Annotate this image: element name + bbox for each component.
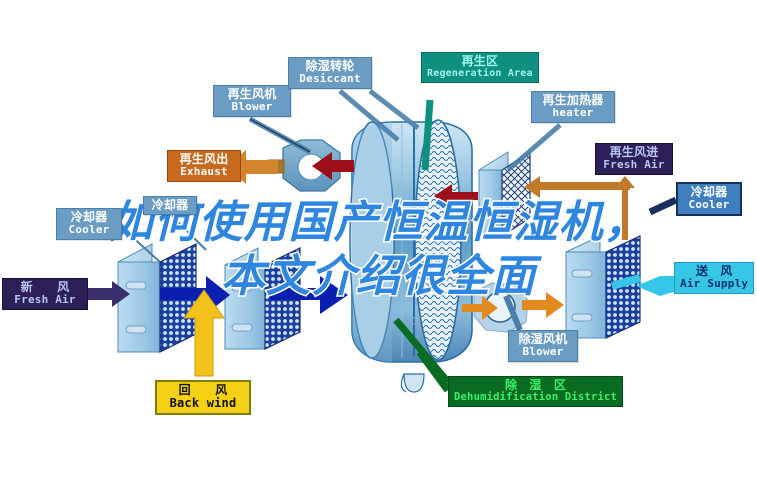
label-cooler-mid-cn: 冷却器: [149, 199, 191, 212]
label-air-supply: 送 风Air Supply: [674, 262, 754, 294]
label-cooler-left-en: Cooler: [62, 224, 116, 236]
label-dehum-district: 除 湿 区Dehumidification District: [448, 376, 623, 407]
label-dehum-district-cn: 除 湿 区: [454, 379, 617, 392]
label-regen-area: 再生区Regeneration Area: [421, 52, 539, 83]
label-exhaust-cn: 再生风出: [173, 153, 235, 166]
label-regen-heater-cn: 再生加热器: [537, 94, 609, 107]
label-cooler-left-cn: 冷却器: [62, 211, 116, 224]
label-regen-blower-cn: 再生风机: [219, 88, 285, 101]
label-air-supply-cn: 送 风: [680, 265, 748, 278]
overlay-headline-line2: 本文介绍很全面: [0, 250, 757, 304]
label-back-wind: 回 风Back wind: [155, 380, 251, 415]
label-cooler-right-en: Cooler: [683, 199, 735, 211]
label-cooler-right-cn: 冷却器: [683, 186, 735, 199]
label-desiccant-en: Desiccant: [294, 73, 366, 85]
label-fresh-air-left-en: Fresh Air: [8, 294, 82, 306]
label-cooler-mid: 冷却器: [143, 196, 197, 215]
label-fresh-air-left-cn: 新 风: [8, 281, 82, 294]
label-dehum-district-en: Dehumidification District: [454, 392, 617, 404]
label-exhaust-en: Exhaust: [173, 166, 235, 178]
label-cooler-right: 冷却器Cooler: [676, 182, 742, 216]
svg-text:X1: X1: [404, 315, 419, 328]
label-dehum-blower: 除湿风机Blower: [508, 330, 578, 362]
label-cooler-left: 冷却器Cooler: [56, 208, 122, 240]
label-regen-heater-en: heater: [537, 107, 609, 119]
label-back-wind-en: Back wind: [162, 397, 244, 410]
label-regen-fresh-air: 再生风进Fresh Air: [595, 143, 673, 175]
label-regen-area-en: Regeneration Area: [427, 68, 533, 79]
label-back-wind-cn: 回 风: [162, 384, 244, 397]
label-regen-fresh-air-cn: 再生风进: [601, 146, 667, 159]
label-dehum-blower-en: Blower: [514, 346, 572, 358]
label-regen-area-cn: 再生区: [427, 55, 533, 68]
label-desiccant-cn: 除湿转轮: [294, 60, 366, 73]
label-exhaust: 再生风出Exhaust: [167, 150, 241, 182]
label-air-supply-en: Air Supply: [680, 278, 748, 290]
diagram-canvas: X1: [0, 0, 757, 488]
label-regen-blower: 再生风机Blower: [213, 85, 291, 117]
label-regen-blower-en: Blower: [219, 101, 285, 113]
label-desiccant: 除湿转轮Desiccant: [288, 57, 372, 89]
label-fresh-air-left: 新 风Fresh Air: [2, 278, 88, 310]
label-dehum-blower-cn: 除湿风机: [514, 333, 572, 346]
label-regen-heater: 再生加热器heater: [531, 91, 615, 123]
label-regen-fresh-air-en: Fresh Air: [601, 159, 667, 171]
